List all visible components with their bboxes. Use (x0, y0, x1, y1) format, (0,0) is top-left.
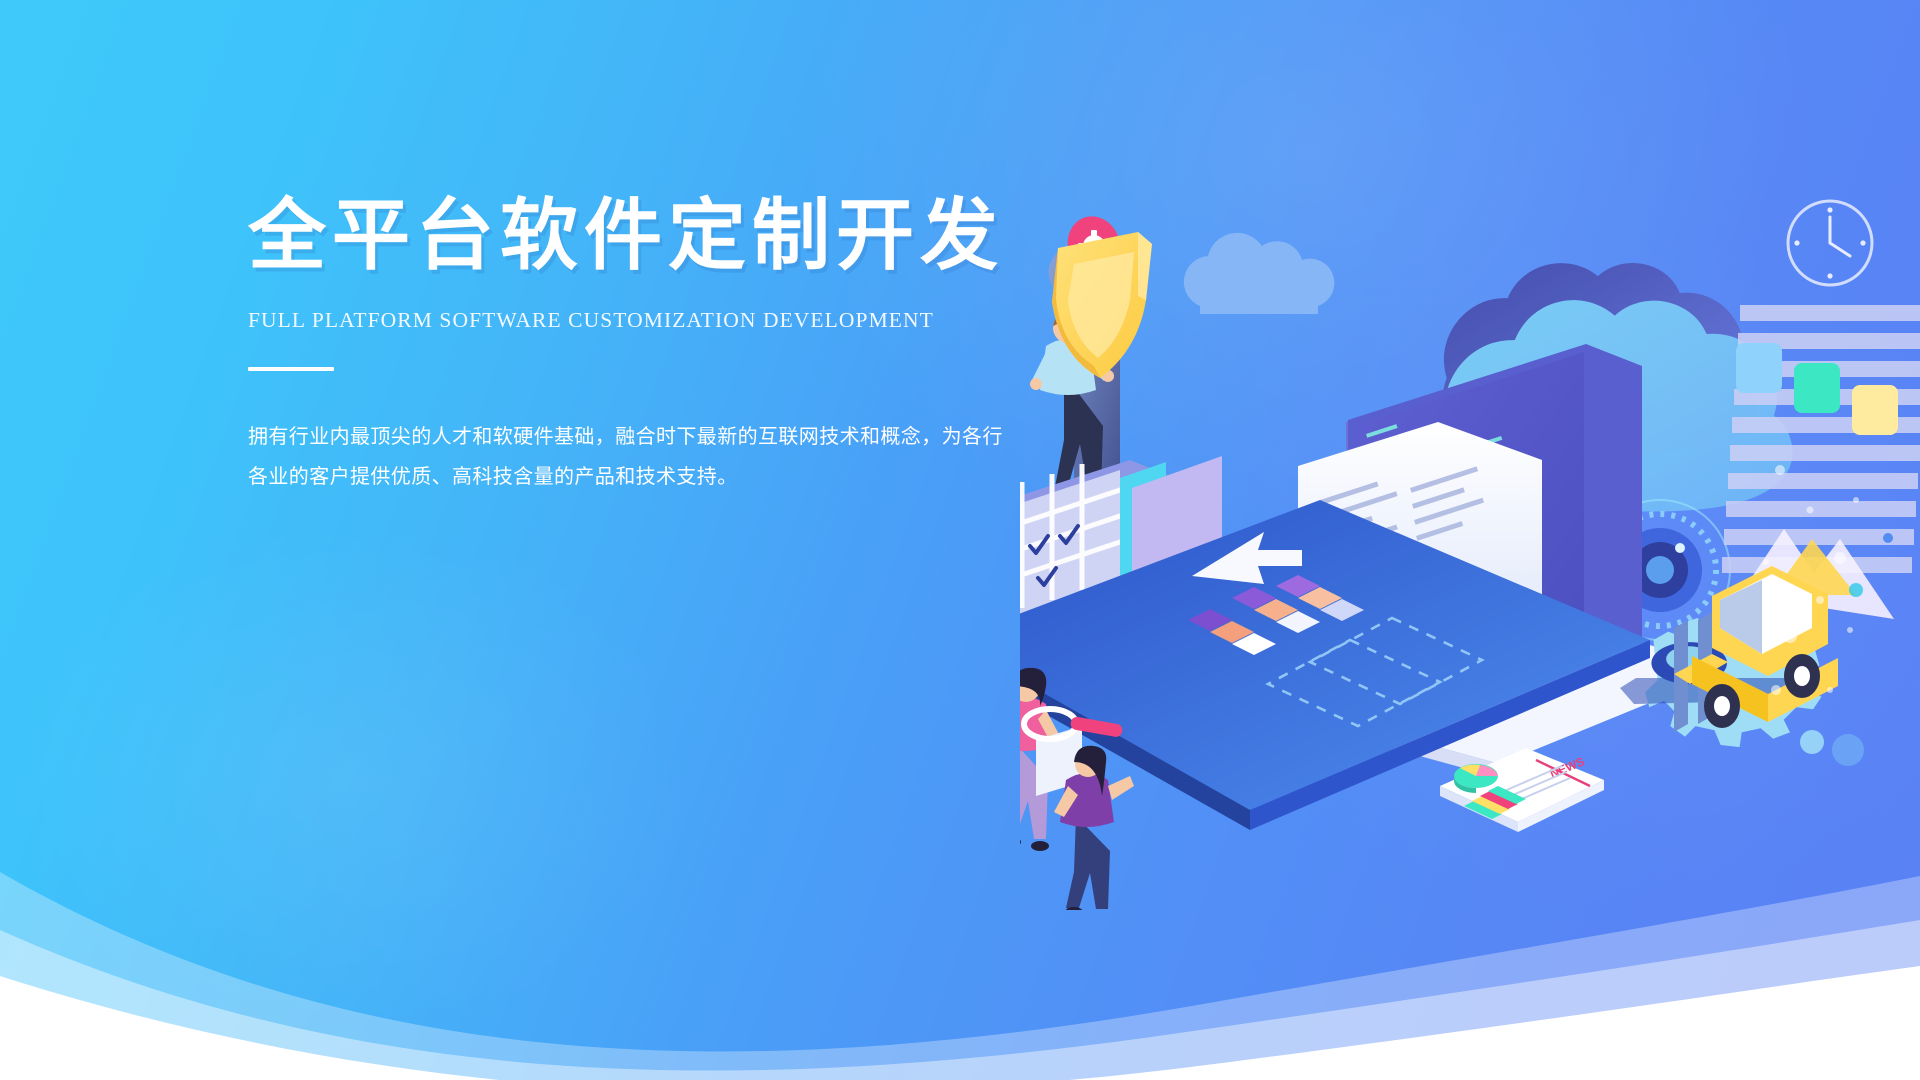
description-line-1: 拥有行业内最顶尖的人才和软硬件基础，融合时下最新的互联网技术和概念，为各行 (248, 417, 1038, 457)
page-subtitle: FULL PLATFORM SOFTWARE CUSTOMIZATION DEV… (248, 308, 1068, 333)
description-line-2: 各业的客户提供优质、高科技含量的产品和技术支持。 (248, 457, 1038, 497)
clock-icon (1788, 201, 1872, 285)
cloud-icon (1184, 233, 1335, 314)
banner-stage: NEWS (0, 0, 1920, 1080)
bottom-wave-decoration (0, 780, 1920, 1080)
hero-copy: 全平台软件定制开发 FULL PLATFORM SOFTWARE CUSTOMI… (248, 196, 1068, 497)
page-title: 全平台软件定制开发 (248, 196, 1068, 274)
description-paragraph: 拥有行业内最顶尖的人才和软硬件基础，融合时下最新的互联网技术和概念，为各行 各业… (248, 417, 1038, 497)
title-divider (248, 367, 334, 371)
